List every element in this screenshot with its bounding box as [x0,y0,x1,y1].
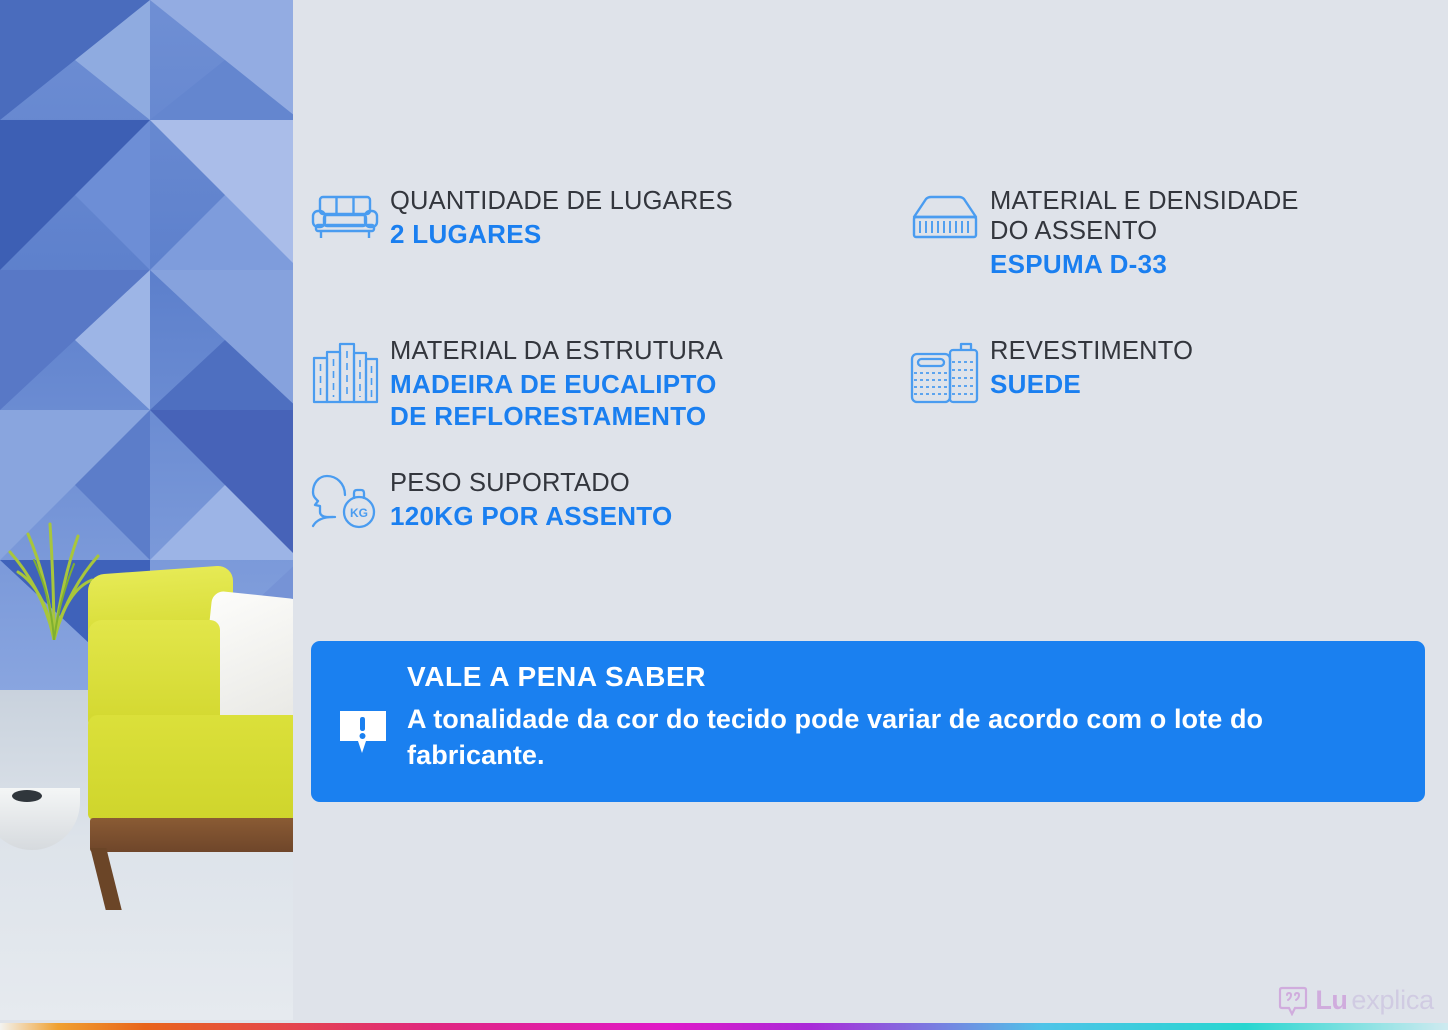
spec-label: MATERIAL E DENSIDADE DO ASSENTO [990,186,1299,246]
spec-item-peso-suportado: KG PESO SUPORTADO 120KG POR ASSENTO [306,468,906,533]
fabric-roll-icon [906,336,984,406]
sofa-icon [306,186,384,240]
specification-list: QUANTIDADE DE LUGARES 2 LUGARES [306,186,1436,533]
sofa-wood-base [90,818,293,852]
spec-item-material-da-estrutura: MATERIAL DA ESTRUTURA MADEIRA DE EUCALIP… [306,336,906,468]
lu-explica-logo: Lu explica [1278,985,1434,1016]
foam-cushion-icon [906,186,984,244]
spec-value: 2 LUGARES [390,219,733,251]
callout-body: VALE A PENA SABER A tonalidade da cor do… [395,657,1403,773]
sofa-cushion-back [88,620,220,725]
brand-gradient-strip [0,1023,1448,1030]
weight-person-icon: KG [306,468,384,530]
logo-secondary-text: explica [1351,985,1434,1016]
spec-value: ESPUMA D-33 [990,249,1299,281]
spec-row-3: KG PESO SUPORTADO 120KG POR ASSENTO [306,468,1436,533]
sofa-seat-cushion [88,715,293,820]
spec-item-material-e-densidade-do-assento: MATERIAL E DENSIDADE DO ASSENTO ESPUMA D… [906,186,1426,336]
spec-label: QUANTIDADE DE LUGARES [390,186,733,216]
spec-item-revestimento: REVESTIMENTO SUEDE [906,336,1426,468]
infographic-page: QUANTIDADE DE LUGARES 2 LUGARES [0,0,1448,1030]
product-photo [0,0,293,1020]
wood-planks-icon [306,336,384,404]
spec-value: MADEIRA DE EUCALIPTO DE REFLORESTAMENTO [390,369,723,432]
spec-value: 120KG POR ASSENTO [390,501,673,533]
spec-label: REVESTIMENTO [990,336,1193,366]
spec-item-quantidade-de-lugares: QUANTIDADE DE LUGARES 2 LUGARES [306,186,906,336]
spec-label: PESO SUPORTADO [390,468,673,498]
spec-row-1: QUANTIDADE DE LUGARES 2 LUGARES [306,186,1436,336]
alert-speech-bubble-icon [331,657,395,757]
worth-knowing-callout: VALE A PENA SABER A tonalidade da cor do… [311,641,1425,802]
spec-row-2: MATERIAL DA ESTRUTURA MADEIRA DE EUCALIP… [306,336,1436,468]
svg-text:KG: KG [350,506,368,520]
spec-value: SUEDE [990,369,1193,401]
spec-label: MATERIAL DA ESTRUTURA [390,336,723,366]
logo-primary-text: Lu [1315,985,1347,1016]
callout-title: VALE A PENA SABER [407,661,1403,693]
callout-text: A tonalidade da cor do tecido pode varia… [407,701,1403,773]
quote-bubble-icon [1278,986,1308,1016]
